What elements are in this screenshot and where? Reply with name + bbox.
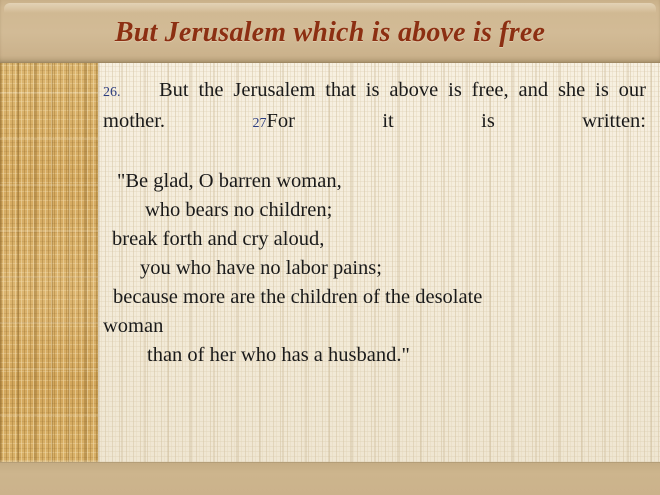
page-title: But Jerusalem which is above is free (0, 17, 660, 49)
title-banner: But Jerusalem which is above is free (0, 0, 660, 63)
scripture-text-block: 26.But the Jerusalem that is above is fr… (98, 63, 660, 462)
poem-line: than of her who has a husband." (103, 341, 646, 370)
poem-line: woman (103, 312, 646, 341)
poem-line: you who have no labor pains; (103, 254, 646, 283)
bottom-border-band (0, 462, 660, 495)
slide-body: 26.But the Jerusalem that is above is fr… (0, 63, 660, 462)
poem-line: because more are the children of the des… (103, 283, 646, 312)
decorative-texture-sidebar (0, 63, 98, 462)
poem-line: break forth and cry aloud, (103, 225, 646, 254)
scripture-poem: "Be glad, O barren woman, who bears no c… (103, 167, 646, 370)
slide: But Jerusalem which is above is free 26.… (0, 0, 660, 495)
poem-line: who bears no children; (103, 196, 646, 225)
verse-number-27: 27 (252, 116, 266, 131)
poem-line: "Be glad, O barren woman, (103, 167, 646, 196)
scripture-paragraph-text-2: For it is written: (266, 110, 646, 132)
scripture-paragraph: 26.But the Jerusalem that is above is fr… (103, 76, 646, 167)
verse-number-26: 26. (103, 78, 159, 107)
